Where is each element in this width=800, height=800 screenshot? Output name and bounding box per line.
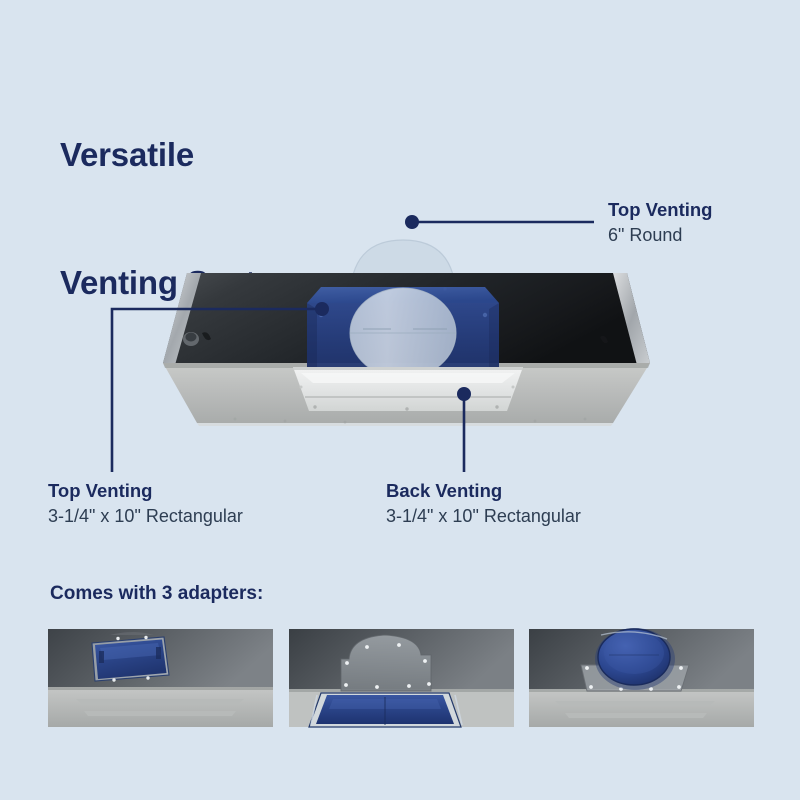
product-illustration bbox=[145, 215, 665, 455]
callout-top-round: Top Venting 6" Round bbox=[608, 198, 712, 247]
adapter-card-back-rectangular bbox=[289, 621, 514, 731]
callout-top-round-subtitle: 6" Round bbox=[608, 223, 712, 247]
page-title-line-1: Versatile bbox=[60, 134, 303, 177]
adapter-gallery bbox=[48, 621, 754, 731]
round-duct-collar bbox=[350, 288, 456, 378]
callout-back-rectangular: Back Venting 3-1/4" x 10" Rectangular bbox=[386, 479, 581, 528]
callout-top-round-heading: Top Venting bbox=[608, 198, 712, 223]
adapter-card-round-collar bbox=[529, 621, 754, 731]
adapter-card-top-rectangular bbox=[48, 621, 273, 731]
adapters-heading: Comes with 3 adapters: bbox=[50, 583, 263, 605]
callout-back-rectangular-subtitle: 3-1/4" x 10" Rectangular bbox=[386, 504, 581, 528]
callout-top-rectangular-heading: Top Venting bbox=[48, 479, 243, 504]
callout-top-rectangular-subtitle: 3-1/4" x 10" Rectangular bbox=[48, 504, 243, 528]
callout-back-rectangular-heading: Back Venting bbox=[386, 479, 581, 504]
venting-system-infographic: Versatile Venting System bbox=[0, 0, 800, 800]
callout-top-rectangular: Top Venting 3-1/4" x 10" Rectangular bbox=[48, 479, 243, 528]
back-vent-panel bbox=[293, 367, 523, 411]
